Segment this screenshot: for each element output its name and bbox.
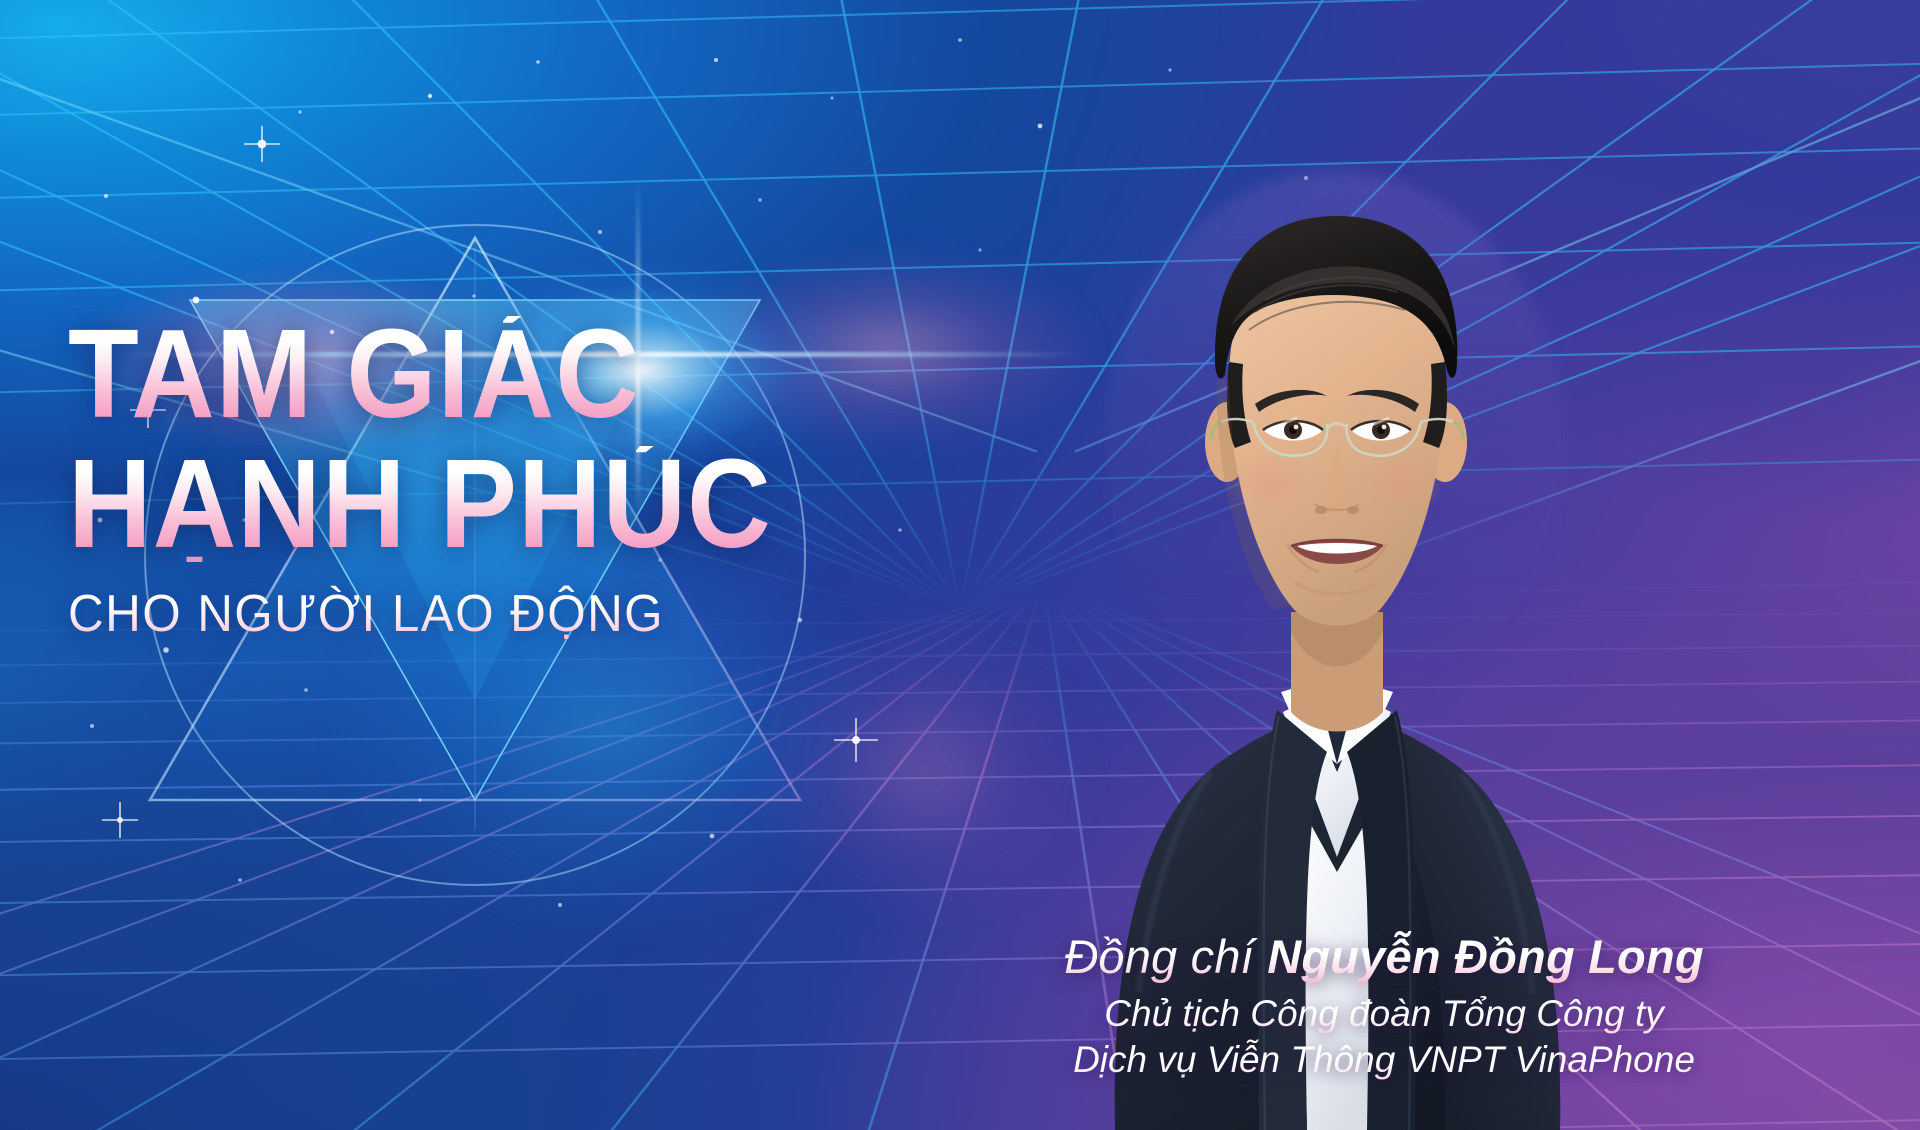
vignette-overlay (0, 0, 1920, 1130)
poster-canvas: TAM GIÁC HẠNH PHÚC CHO NGƯỜI LAO ĐỘNG Đồ… (0, 0, 1920, 1130)
